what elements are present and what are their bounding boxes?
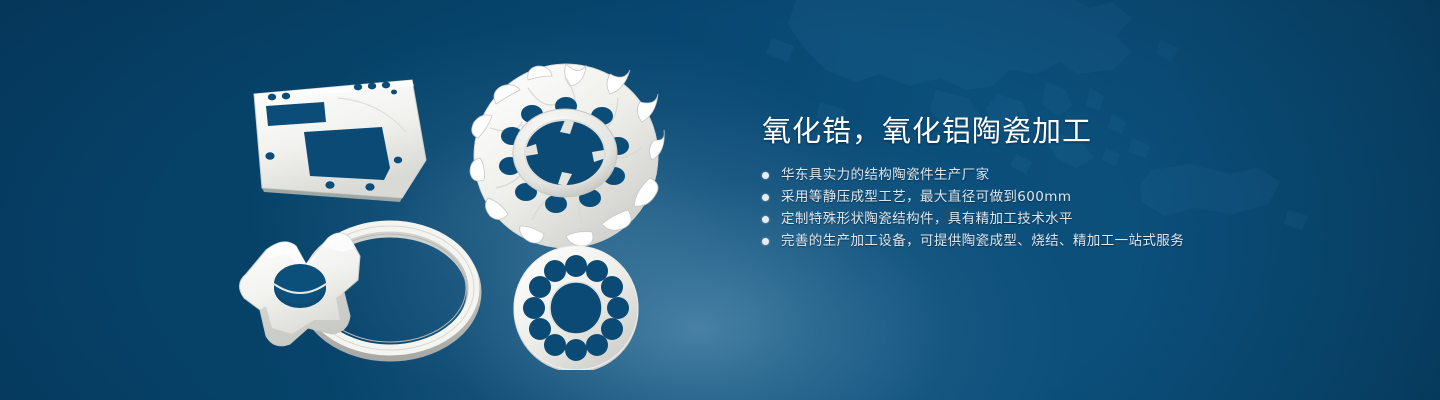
- list-item: 采用等静压成型工艺，最大直径可做到600mm: [762, 186, 1382, 208]
- ceramic-plate-part: [254, 80, 426, 202]
- bullet-dot-icon: [762, 172, 769, 179]
- feature-text: 完善的生产加工设备，可提供陶瓷成型、烧结、精加工一站式服务: [781, 230, 1184, 252]
- list-item: 完善的生产加工设备，可提供陶瓷成型、烧结、精加工一站式服务: [762, 230, 1382, 252]
- list-item: 定制特殊形状陶瓷结构件，具有精加工技术水平: [762, 208, 1382, 230]
- feature-text: 华东具实力的结构陶瓷件生产厂家: [781, 164, 990, 186]
- bullet-dot-icon: [762, 216, 769, 223]
- ceramic-cross-part: [239, 233, 360, 346]
- banner-copy: 氧化锆，氧化铝陶瓷加工 华东具实力的结构陶瓷件生产厂家 采用等静压成型工艺，最大…: [762, 112, 1382, 252]
- feature-text: 定制特殊形状陶瓷结构件，具有精加工技术水平: [781, 208, 1073, 230]
- hero-banner: 氧化锆，氧化铝陶瓷加工 华东具实力的结构陶瓷件生产厂家 采用等静压成型工艺，最大…: [0, 0, 1440, 400]
- list-item: 华东具实力的结构陶瓷件生产厂家: [762, 164, 1382, 186]
- feature-list: 华东具实力的结构陶瓷件生产厂家 采用等静压成型工艺，最大直径可做到600mm 定…: [762, 164, 1382, 252]
- bullet-dot-icon: [762, 194, 769, 201]
- feature-text: 采用等静压成型工艺，最大直径可做到600mm: [781, 186, 1071, 208]
- ceramic-parts-photo: [230, 40, 710, 370]
- bullet-dot-icon: [762, 238, 769, 245]
- page-title: 氧化锆，氧化铝陶瓷加工: [762, 112, 1382, 150]
- ceramic-perforated-disc-part: [514, 246, 638, 370]
- ceramic-impeller-part: [470, 64, 664, 248]
